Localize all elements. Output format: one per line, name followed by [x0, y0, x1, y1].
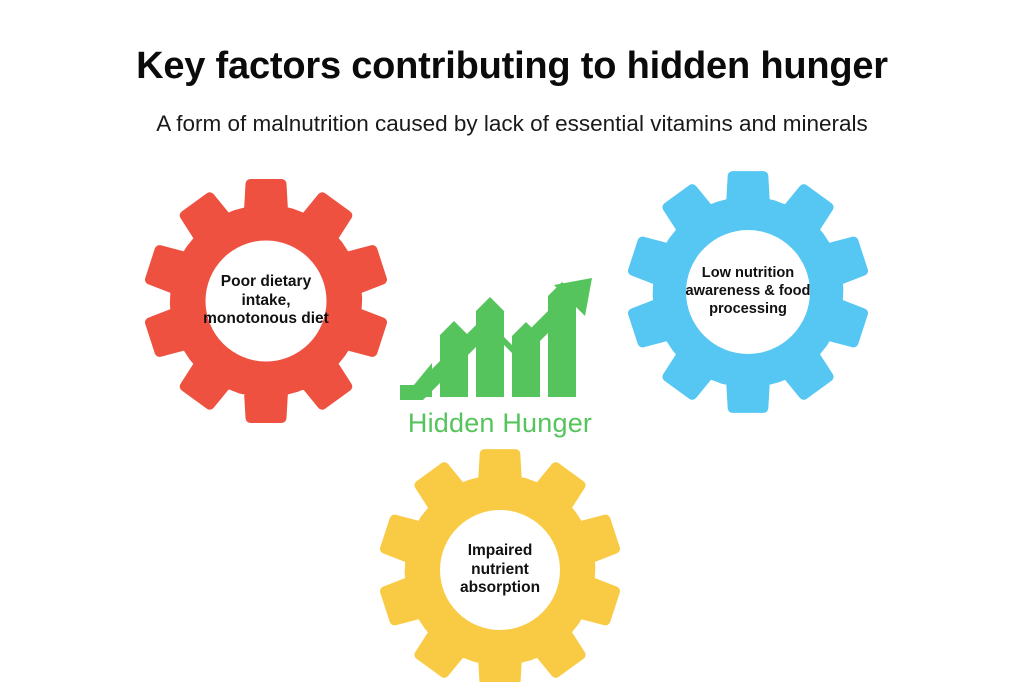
gear-low-nutrition-awareness[interactable]: Low nutrition awareness & food processin… [630, 174, 866, 410]
gear-icon-red [147, 182, 385, 420]
gear-icon-blue [630, 174, 866, 410]
gear-poor-dietary-intake[interactable]: Poor dietary intake, monotonous diet [147, 182, 385, 420]
hidden-hunger-label: Hidden Hunger [380, 408, 620, 439]
growth-chart-icon [396, 262, 600, 404]
page-subtitle: A form of malnutrition caused by lack of… [0, 110, 1024, 137]
infographic-canvas: Key factors contributing to hidden hunge… [0, 0, 1024, 682]
gear-icon-yellow [382, 452, 618, 682]
chart-bar-3 [476, 297, 504, 397]
page-title: Key factors contributing to hidden hunge… [0, 46, 1024, 88]
gear-impaired-nutrient-absorption[interactable]: Impaired nutrient absorption [382, 452, 618, 682]
